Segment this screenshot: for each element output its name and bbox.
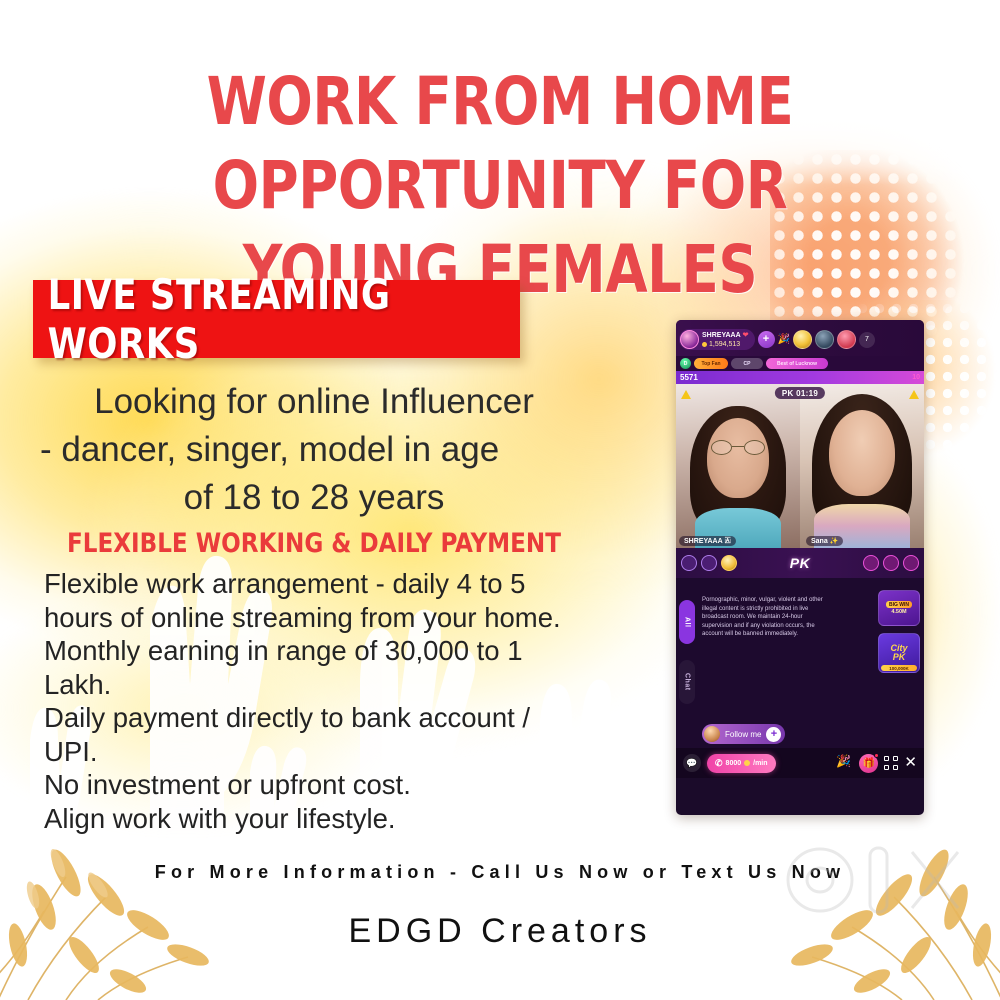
body-line: No investment or upfront cost. xyxy=(44,768,609,802)
gift-icon[interactable]: 🎁 xyxy=(859,754,878,773)
body-copy: Flexible work arrangement - daily 4 to 5… xyxy=(44,567,609,835)
firecracker-icon[interactable]: 🎉 xyxy=(833,754,853,772)
promo-column: BIG WIN 4.50M City PK 100,000K xyxy=(878,590,920,673)
pk-seat-bar: PK xyxy=(676,548,924,578)
pk-right-name-tag: Sana ✨ xyxy=(806,536,843,546)
body-line: Monthly earning in range of 30,000 to 1 xyxy=(44,634,609,668)
intro-line-1: Looking for online Influencer xyxy=(34,378,594,426)
badge-top-fan[interactable]: Top Fan xyxy=(694,358,728,369)
flag-icon: 🇦 xyxy=(725,537,731,545)
pk-left-seats xyxy=(681,555,737,571)
pk-left-name-tag: SHREYAAA 🇦 xyxy=(679,536,736,546)
seat-slot[interactable] xyxy=(681,555,697,571)
city-pk-amount: 100,000K xyxy=(881,665,917,671)
follow-me-label: Follow me xyxy=(725,730,761,739)
body-line: hours of online streaming from your home… xyxy=(44,601,609,635)
big-win-label: BIG WIN xyxy=(886,601,912,608)
level-progress-bar: 5571 10 xyxy=(676,371,924,384)
chat-area: All Chat Pornographic, minor, vulgar, vi… xyxy=(676,578,924,778)
follow-plus-button[interactable]: + xyxy=(766,727,781,742)
intro-copy: Looking for online Influencer - dancer, … xyxy=(34,378,594,522)
warning-triangle-icon xyxy=(909,390,919,399)
live-streaming-banner: LIVE STREAMING WORKS xyxy=(33,280,520,358)
follow-avatar xyxy=(704,726,720,742)
streamer-face xyxy=(707,418,769,498)
host-avatar xyxy=(680,330,699,349)
host-coin-row: 1,594,513 xyxy=(702,340,749,349)
bottom-action-bar: 💬 ✆ 8000 /min 🎉 🎁 ✕ xyxy=(676,748,924,778)
viewer-avatar[interactable] xyxy=(837,330,856,349)
subheading: FLEXIBLE WORKING & DAILY PAYMENT xyxy=(48,528,580,559)
close-icon[interactable]: ✕ xyxy=(904,756,917,770)
seat-slot[interactable] xyxy=(903,555,919,571)
video-call-rate-button[interactable]: ✆ 8000 /min xyxy=(707,754,776,773)
tab-all[interactable]: All xyxy=(679,600,695,644)
viewer-count-badge[interactable]: 7 xyxy=(859,332,875,348)
sparkle-icon: ✨ xyxy=(830,537,839,545)
coin-icon xyxy=(744,760,750,766)
badge-level[interactable]: D xyxy=(680,358,691,369)
big-win-promo[interactable]: BIG WIN 4.50M xyxy=(878,590,920,626)
follow-me-row: Follow me + xyxy=(702,724,785,744)
heart-icon: ❤ xyxy=(743,331,749,340)
call-rate-unit: /min xyxy=(753,760,767,767)
city-pk-line-2: PK xyxy=(893,653,906,662)
warning-triangle-icon xyxy=(681,390,691,399)
wheat-decoration-left xyxy=(0,815,218,1000)
host-profile-chip[interactable]: SHREYAAA ❤ 1,594,513 xyxy=(679,329,755,350)
pk-timer-badge: PK 01:19 xyxy=(775,387,825,399)
follow-host-button[interactable]: + xyxy=(758,331,775,348)
chat-filter-tabs: All Chat xyxy=(679,600,695,720)
seat-occupied-avatar[interactable] xyxy=(721,555,737,571)
badge-cp[interactable]: CP xyxy=(731,358,763,369)
banner-label: LIVE STREAMING WORKS xyxy=(48,270,506,368)
call-rate-value: 8000 xyxy=(726,760,742,767)
pk-right-seats xyxy=(863,555,919,571)
headline-line-1: WORK FROM HOME OPPORTUNITY FOR xyxy=(207,63,794,224)
room-warning-message: Pornographic, minor, vulgar, violent and… xyxy=(702,596,832,639)
progress-right-label: 10 xyxy=(912,374,920,381)
body-line: Lakh. xyxy=(44,668,609,702)
live-header: SHREYAAA ❤ 1,594,513 + 🎉 7 xyxy=(676,320,924,356)
body-line: Daily payment directly to bank account / xyxy=(44,701,609,735)
viewer-avatar[interactable] xyxy=(793,330,812,349)
seat-slot[interactable] xyxy=(883,555,899,571)
city-pk-promo[interactable]: City PK 100,000K xyxy=(878,633,920,673)
pk-right-stream[interactable] xyxy=(800,384,924,548)
follow-me-pill[interactable]: Follow me + xyxy=(702,724,785,744)
big-win-amount: 4.50M xyxy=(891,609,906,615)
seat-slot[interactable] xyxy=(863,555,879,571)
pk-label: PK xyxy=(790,555,810,571)
ribbon-icon: 🎉 xyxy=(778,334,790,345)
host-name: SHREYAAA xyxy=(702,331,741,340)
tab-chat[interactable]: Chat xyxy=(679,660,695,704)
phone-call-icon: ✆ xyxy=(715,758,723,769)
viewer-avatar[interactable] xyxy=(815,330,834,349)
live-stream-app-screenshot: SHREYAAA ❤ 1,594,513 + 🎉 7 D Top Fan CP xyxy=(676,320,924,815)
glasses-icon xyxy=(711,440,765,455)
badge-row: D Top Fan CP Best of Lucknow xyxy=(676,356,924,371)
seat-slot[interactable] xyxy=(701,555,717,571)
streamer-face xyxy=(829,410,895,496)
intro-line-3: of 18 to 28 years xyxy=(34,474,594,522)
badge-room-title[interactable]: Best of Lucknow xyxy=(766,358,828,369)
host-coin-count: 1,594,513 xyxy=(709,340,740,349)
pk-right-name: Sana xyxy=(811,538,828,545)
chat-bubble-icon[interactable]: 💬 xyxy=(683,754,701,772)
olx-watermark xyxy=(778,846,968,914)
pk-video-stage: SHREYAAA 🇦 PK 01:19 Sana ✨ xyxy=(676,384,924,548)
coin-icon xyxy=(702,342,707,347)
host-name-row: SHREYAAA ❤ xyxy=(702,331,749,340)
intro-line-2: - dancer, singer, model in age xyxy=(34,426,594,474)
grid-apps-icon[interactable] xyxy=(884,756,898,770)
pk-left-stream[interactable]: SHREYAAA 🇦 xyxy=(676,384,800,548)
footer-brand-name: EDGD Creators xyxy=(0,912,1000,951)
body-line: Flexible work arrangement - daily 4 to 5 xyxy=(44,567,609,601)
pk-left-name: SHREYAAA xyxy=(684,538,723,545)
body-line: UPI. xyxy=(44,735,609,769)
notification-dot xyxy=(874,753,879,758)
advertisement-poster: WORK FROM HOME OPPORTUNITY FOR YOUNG FEM… xyxy=(0,0,1000,1000)
host-meta: SHREYAAA ❤ 1,594,513 xyxy=(702,331,749,349)
progress-value: 5571 xyxy=(680,373,698,382)
